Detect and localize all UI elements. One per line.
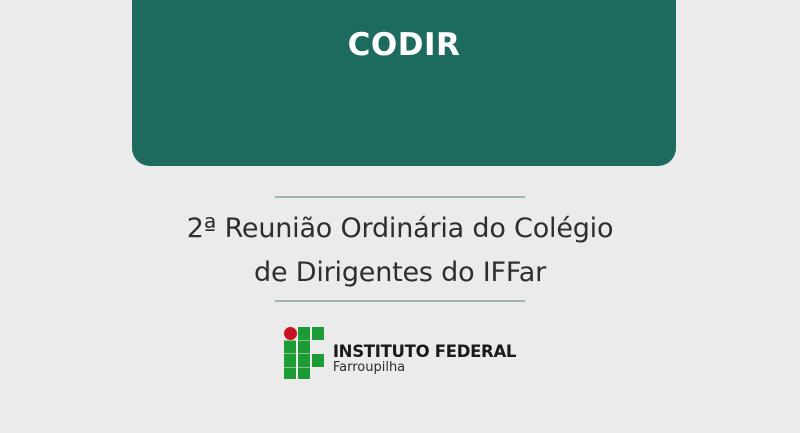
iffar-logo: INSTITUTO FEDERAL Farroupilha bbox=[0, 327, 800, 379]
meeting-title-block: 2ª Reunião Ordinária do Colégio de Dirig… bbox=[0, 196, 800, 302]
page-title-line-2: de Dirigentes do IFFar bbox=[60, 251, 740, 295]
iffar-logo-text: INSTITUTO FEDERAL Farroupilha bbox=[333, 330, 516, 376]
banner-title: CODIR bbox=[132, 30, 676, 61]
page-title: 2ª Reunião Ordinária do Colégio de Dirig… bbox=[0, 207, 800, 295]
page-title-line-1: 2ª Reunião Ordinária do Colégio bbox=[60, 207, 740, 251]
codir-banner: CODIR bbox=[132, 0, 676, 166]
divider-top bbox=[275, 196, 525, 198]
iffar-logo-mark-icon bbox=[284, 327, 324, 379]
iffar-logo-name: INSTITUTO FEDERAL bbox=[333, 343, 516, 360]
slide-canvas: CODIR 2ª Reunião Ordinária do Colégio de… bbox=[0, 0, 800, 433]
divider-bottom bbox=[275, 300, 525, 302]
iffar-logo-campus: Farroupilha bbox=[333, 361, 516, 376]
iffar-logo-inner: INSTITUTO FEDERAL Farroupilha bbox=[284, 327, 516, 379]
